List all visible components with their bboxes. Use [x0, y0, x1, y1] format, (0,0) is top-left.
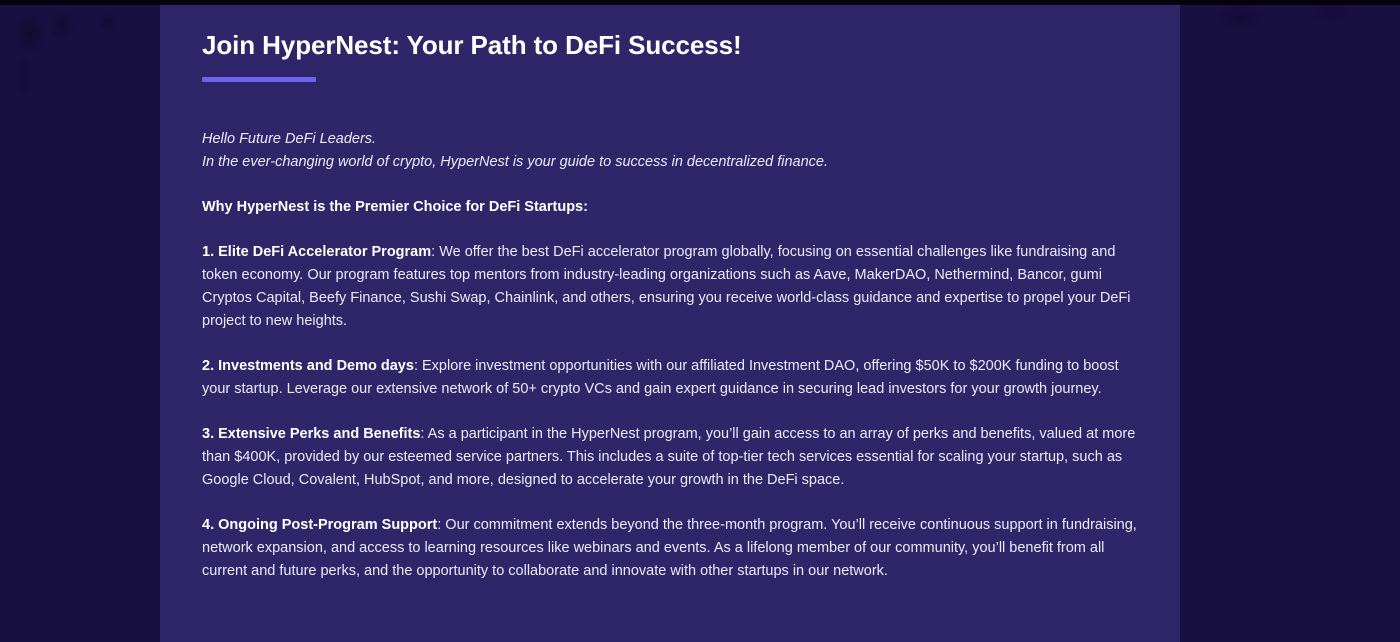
intro-greeting: Hello Future DeFi Leaders. [202, 128, 1140, 151]
page-title: Join HyperNest: Your Path to DeFi Succes… [202, 29, 1140, 61]
section-label: 2. Investments and Demo days [202, 358, 414, 374]
section-item: 4. Ongoing Post-Program Support: Our com… [202, 514, 1140, 583]
section-label: 1. Elite DeFi Accelerator Program [202, 244, 431, 260]
document-body: Hello Future DeFi Leaders. In the ever-c… [202, 128, 1140, 583]
background-texture-right [1180, 0, 1400, 140]
section-subheading: Why HyperNest is the Premier Choice for … [202, 196, 1140, 219]
background-texture-left [0, 0, 160, 160]
section-item: 1. Elite DeFi Accelerator Program: We of… [202, 241, 1140, 333]
title-accent-bar [202, 77, 316, 82]
content-card: Join HyperNest: Your Path to DeFi Succes… [160, 5, 1180, 642]
section-item: 3. Extensive Perks and Benefits: As a pa… [202, 423, 1140, 492]
section-item: 2. Investments and Demo days: Explore in… [202, 355, 1140, 401]
section-label: 4. Ongoing Post-Program Support [202, 517, 437, 533]
top-chrome-strip [0, 0, 1400, 5]
intro-tagline: In the ever-changing world of crypto, Hy… [202, 151, 1140, 174]
section-label: 3. Extensive Perks and Benefits [202, 426, 420, 442]
